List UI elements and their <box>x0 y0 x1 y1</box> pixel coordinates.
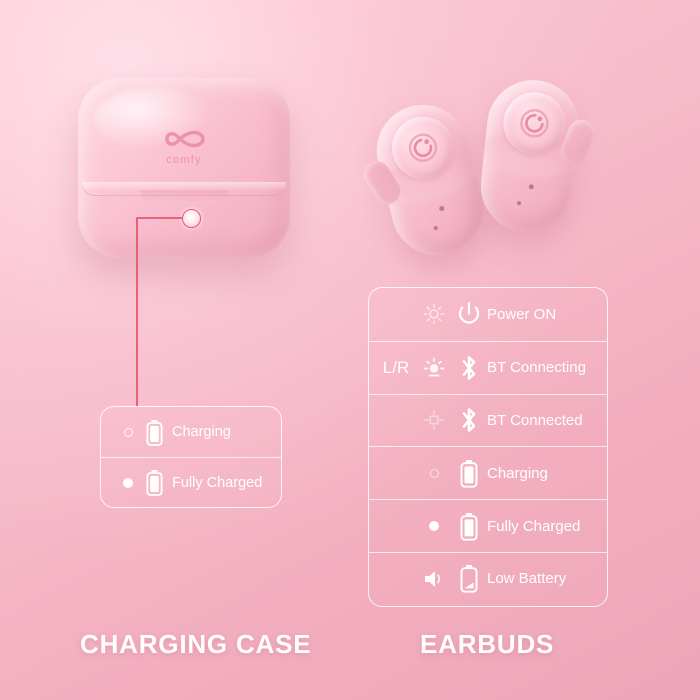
legend-row: Fully Charged <box>369 499 607 552</box>
legend-row: L/R BT Connecting <box>369 341 607 394</box>
battery-icon <box>451 512 487 541</box>
legend-label: Fully Charged <box>172 475 262 491</box>
hollow-dot-icon <box>417 469 451 478</box>
charging-case-illustration: comfy <box>78 78 290 258</box>
sun-outline-icon <box>417 409 451 431</box>
infographic-canvas: comfy <box>0 0 700 700</box>
sun-flash-icon <box>417 303 451 325</box>
legend-row: Fully Charged <box>101 457 281 507</box>
earbuds-legend: Power ON L/R <box>368 287 608 607</box>
sun-flash-icon <box>417 357 451 379</box>
legend-label: Charging <box>172 424 231 440</box>
bluetooth-icon <box>451 405 487 435</box>
case-highlight <box>94 88 214 150</box>
legend-label: Power ON <box>487 306 556 323</box>
caption-earbuds: EARBUDS <box>420 629 554 660</box>
earbuds-illustration <box>372 78 602 258</box>
speaker-icon <box>417 568 451 590</box>
legend-label: Low Battery <box>487 570 566 587</box>
earbud-left-sensor <box>433 226 438 231</box>
hollow-dot-icon <box>115 428 141 437</box>
spiral-power-logo-icon <box>401 126 445 170</box>
battery-icon <box>451 459 487 488</box>
legend-label: BT Connected <box>487 412 583 429</box>
solid-dot-icon <box>115 478 141 488</box>
legend-label: BT Connecting <box>487 359 586 376</box>
bluetooth-icon <box>451 353 487 383</box>
led-indicator-icon <box>182 209 201 228</box>
battery-icon <box>141 469 167 496</box>
caption-charging-case: CHARGING CASE <box>80 629 311 660</box>
earbud-right <box>476 76 583 237</box>
spiral-power-logo-icon <box>515 104 555 144</box>
side-label: L/R <box>375 358 417 378</box>
battery-low-icon <box>451 564 487 593</box>
earbud-left-mic <box>439 205 445 211</box>
charging-case-legend: Charging Fully Charged <box>100 406 282 508</box>
earbud-left <box>367 95 493 265</box>
legend-row: Low Battery <box>369 552 607 605</box>
legend-row: Charging <box>101 407 281 457</box>
battery-icon <box>141 419 167 446</box>
case-lid-notch <box>140 190 228 204</box>
earbud-right-sensor <box>517 201 521 205</box>
legend-label: Fully Charged <box>487 518 580 535</box>
earbud-right-mic <box>529 184 534 189</box>
power-icon <box>451 300 487 328</box>
legend-row: Power ON <box>369 288 607 341</box>
legend-label: Charging <box>487 465 548 482</box>
legend-row: Charging <box>369 446 607 499</box>
legend-row: BT Connected <box>369 394 607 447</box>
solid-dot-icon <box>417 521 451 531</box>
